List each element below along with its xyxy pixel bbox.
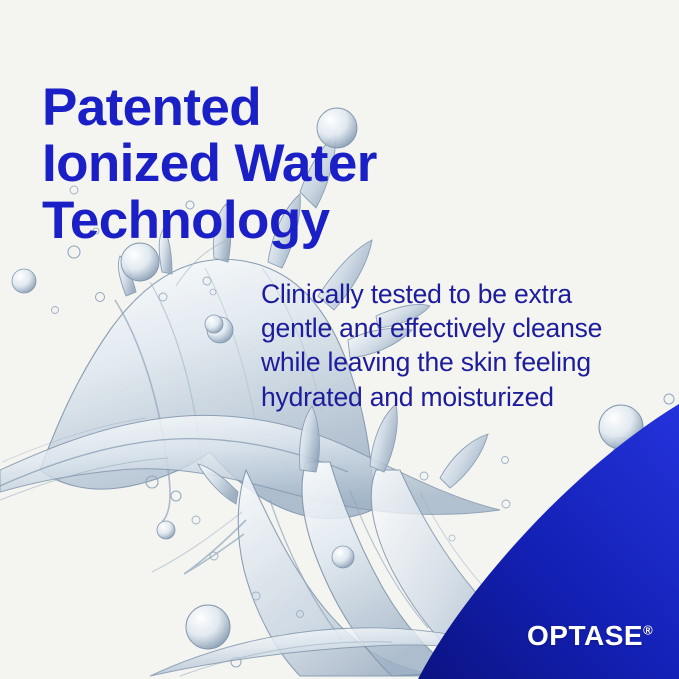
blue-corner-panel bbox=[0, 0, 679, 679]
brand-name: OPTASE bbox=[527, 620, 643, 651]
brand-logo: OPTASE® bbox=[527, 620, 653, 652]
promotional-banner: Patented Ionized Water Technology Clinic… bbox=[0, 0, 679, 679]
registered-trademark-icon: ® bbox=[643, 623, 653, 638]
